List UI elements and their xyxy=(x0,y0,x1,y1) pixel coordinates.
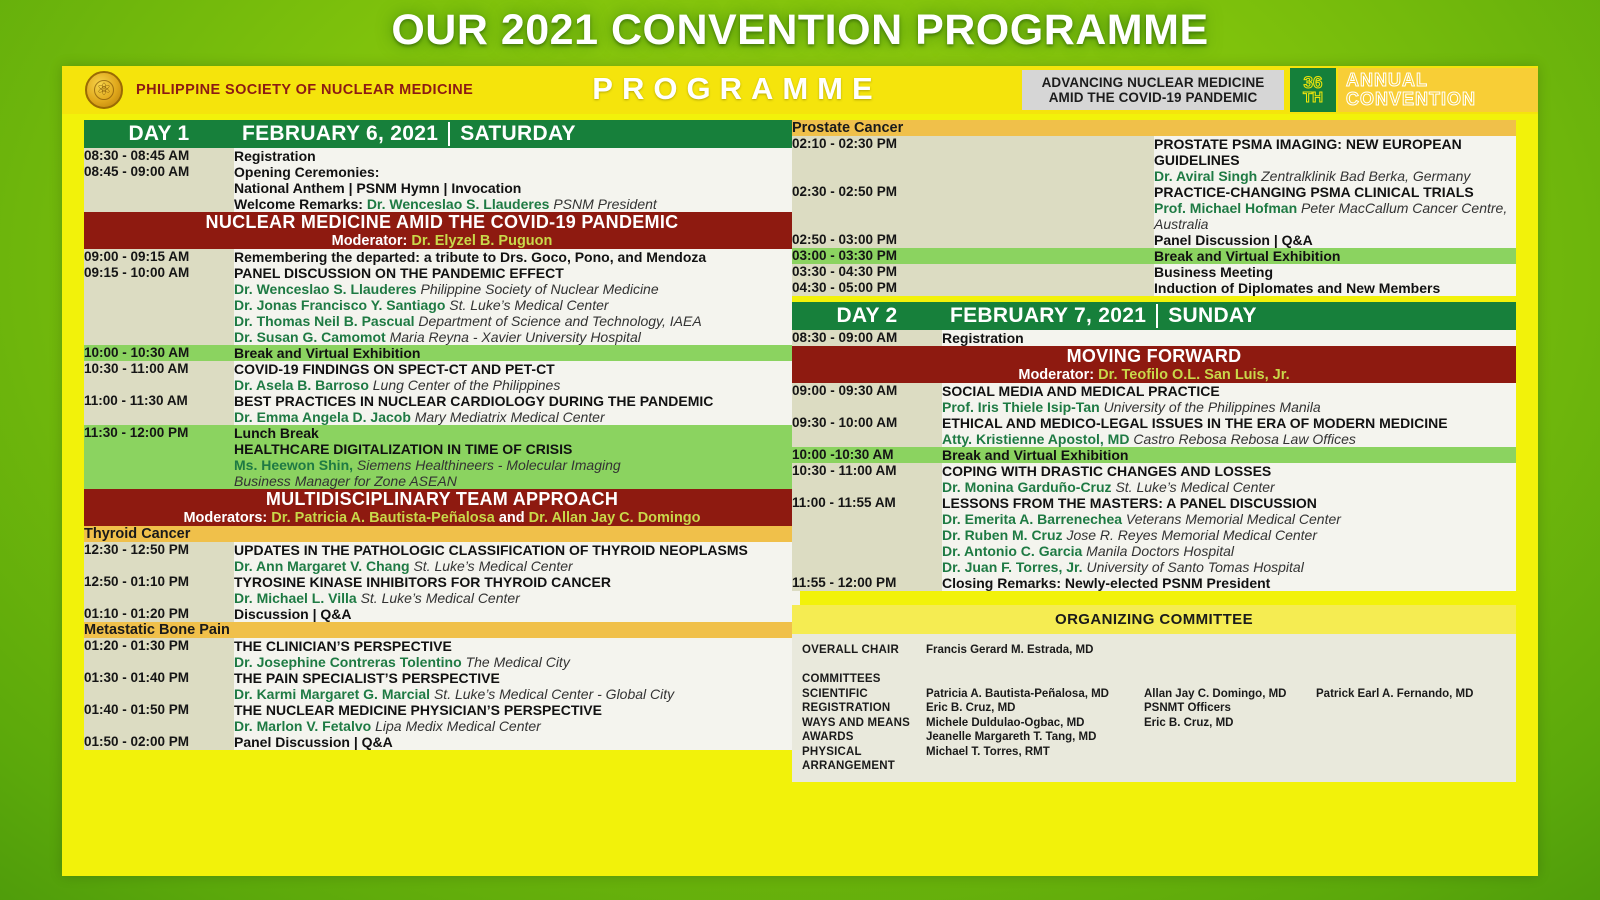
entry-speaker: Prof. Michael Hofman xyxy=(1154,200,1297,216)
oc-entry xyxy=(1144,730,1316,745)
schedule-entry: TYROSINE KINASE INHIBITORS FOR THYROID C… xyxy=(234,574,800,590)
schedule-row: 03:30 - 04:30 PMBusiness Meeting xyxy=(792,264,1516,280)
oc-entry: PHYSICAL ARRANGEMENT xyxy=(802,745,926,774)
schedule-line: Panel Discussion | Q&A xyxy=(1154,232,1516,248)
schedule-line: Break and Virtual Exhibition xyxy=(1154,248,1516,264)
entry-speaker: Dr. Karmi Margaret G. Marcial xyxy=(234,686,430,702)
schedule-row: 08:30 - 08:45 AMRegistration xyxy=(84,148,800,164)
entry-speaker: Dr. Emma Angela D. Jacob xyxy=(234,409,411,425)
schedule-line: Dr. Aviral Singh Zentralklinik Bad Berka… xyxy=(1154,168,1516,184)
organizing-committee-body: OVERALL CHAIR COMMITTEESSCIENTIFICREGIST… xyxy=(792,634,1516,782)
schedule-time: 11:30 - 12:00 PM xyxy=(84,425,234,489)
oc-entry: Eric B. Cruz, MD xyxy=(1144,716,1316,731)
entry-title: PANEL DISCUSSION ON THE PANDEMIC EFFECT xyxy=(234,265,564,281)
entry-affiliation: St. Luke’s Medical Center xyxy=(413,558,572,574)
oc-entry xyxy=(1316,716,1516,731)
schedule-row: 10:30 - 11:00 AMCOVID-19 FINDINGS ON SPE… xyxy=(84,361,800,377)
schedule-line: TYROSINE KINASE INHIBITORS FOR THYROID C… xyxy=(234,574,800,590)
schedule-time: 01:20 - 01:30 PM xyxy=(84,638,234,654)
schedule-entry: COPING WITH DRASTIC CHANGES AND LOSSES xyxy=(942,463,1516,479)
subsection-title: Metastatic Bone Pain xyxy=(84,622,800,638)
masthead: ⚛ PHILIPPINE SOCIETY OF NUCLEAR MEDICINE… xyxy=(62,66,1538,114)
subsection-header-row: Prostate Cancer xyxy=(792,120,1516,136)
entry-title: ETHICAL AND MEDICO-LEGAL ISSUES IN THE E… xyxy=(942,415,1448,431)
theme-line-1: ADVANCING NUCLEAR MEDICINE xyxy=(1042,75,1265,90)
oc-entry xyxy=(926,658,1144,673)
schedule-line: Break and Virtual Exhibition xyxy=(942,447,1516,463)
schedule-line: ETHICAL AND MEDICO-LEGAL ISSUES IN THE E… xyxy=(942,415,1516,431)
schedule-line: Closing Remarks: Newly-elected PSNM Pres… xyxy=(942,575,1516,591)
entry-title: Opening Ceremonies: xyxy=(234,164,379,180)
entry-title: Break and Virtual Exhibition xyxy=(234,345,420,361)
schedule-time: 10:00 -10:30 AM xyxy=(792,447,942,463)
schedule-row: 11:30 - 12:00 PMLunch BreakHEALTHCARE DI… xyxy=(84,425,800,489)
column-right: Prostate Cancer02:10 - 02:30 PMPROSTATE … xyxy=(792,120,1516,782)
annual-convention-wordmark: ANNUAL CONVENTION xyxy=(1338,68,1538,112)
schedule-entry: Dr. Emma Angela D. Jacob Mary Mediatrix … xyxy=(234,409,800,425)
entry-affiliation: Siemens Healthineers - Molecular Imaging xyxy=(357,457,621,473)
schedule-row: 01:30 - 01:40 PMTHE PAIN SPECIALIST’S PE… xyxy=(84,670,800,686)
schedule-time: 01:50 - 02:00 PM xyxy=(84,734,234,750)
schedule-line: Dr. Emerita A. Barrenechea Veterans Memo… xyxy=(942,511,1516,527)
day1-schedule-table: 08:30 - 08:45 AMRegistration08:45 - 09:0… xyxy=(84,148,800,750)
annual-line-2: CONVENTION xyxy=(1346,90,1538,109)
schedule-entry: Dr. Josephine Contreras Tolentino The Me… xyxy=(234,654,800,670)
entry-title: THE NUCLEAR MEDICINE PHYSICIAN’S PERSPEC… xyxy=(234,702,602,718)
schedule-time: 12:30 - 12:50 PM xyxy=(84,542,234,558)
schedule-entry: ETHICAL AND MEDICO-LEGAL ISSUES IN THE E… xyxy=(942,415,1516,431)
entry-speaker: Dr. Ruben M. Cruz xyxy=(942,527,1063,543)
schedule-line: SOCIAL MEDIA AND MEDICAL PRACTICE xyxy=(942,383,1516,399)
schedule-entry: Panel Discussion | Q&A xyxy=(234,734,800,750)
schedule-row: 09:15 - 10:00 AMPANEL DISCUSSION ON THE … xyxy=(84,265,800,281)
schedule-line: Dr. Ann Margaret V. Chang St. Luke’s Med… xyxy=(234,558,800,574)
schedule-row: Dr. Marlon V. Fetalvo Lipa Medix Medical… xyxy=(84,718,800,734)
schedule-row: Dr. Michael L. Villa St. Luke’s Medical … xyxy=(84,590,800,606)
schedule-time xyxy=(792,511,942,575)
schedule-line: Dr. Karmi Margaret G. Marcial St. Luke’s… xyxy=(234,686,800,702)
entry-affiliation: Castro Rebosa Rebosa Law Offices xyxy=(1133,431,1356,447)
schedule-line: National Anthem | PSNM Hymn | Invocation xyxy=(234,180,800,196)
schedule-row: Dr. Emerita A. Barrenechea Veterans Memo… xyxy=(792,511,1516,575)
entry-speaker: Dr. Thomas Neil B. Pascual xyxy=(234,313,415,329)
session-title: MULTIDISCIPLINARY TEAM APPROACH xyxy=(84,489,800,510)
schedule-entry: LESSONS FROM THE MASTERS: A PANEL DISCUS… xyxy=(942,495,1516,511)
edition-number: 36 xyxy=(1304,75,1323,90)
oc-entry: REGISTRATION xyxy=(802,701,926,716)
schedule-time: 12:50 - 01:10 PM xyxy=(84,574,234,590)
schedule-line: LESSONS FROM THE MASTERS: A PANEL DISCUS… xyxy=(942,495,1516,511)
schedule-row: 10:30 - 11:00 AMCOPING WITH DRASTIC CHAN… xyxy=(792,463,1516,479)
oc-entry xyxy=(1316,658,1516,673)
break-row: 03:00 - 03:30 PMBreak and Virtual Exhibi… xyxy=(792,248,1516,264)
oc-entry xyxy=(926,672,1144,687)
break-row: 10:00 - 10:30 AMBreak and Virtual Exhibi… xyxy=(84,345,800,361)
session-moderator: Moderator: Dr. Teofilo O.L. San Luis, Jr… xyxy=(792,367,1516,383)
oc-entry xyxy=(1316,730,1516,745)
schedule-line: Dr. Josephine Contreras Tolentino The Me… xyxy=(234,654,800,670)
schedule-line: THE NUCLEAR MEDICINE PHYSICIAN’S PERSPEC… xyxy=(234,702,800,718)
schedule-entry: PROSTATE PSMA IMAGING: NEW EUROPEAN GUID… xyxy=(1154,136,1516,168)
day2-date: FEBRUARY 7, 2021 xyxy=(942,304,1158,328)
schedule-line: Dr. Monina Garduño-Cruz St. Luke’s Medic… xyxy=(942,479,1516,495)
schedule-line: HEALTHCARE DIGITALIZATION IN TIME OF CRI… xyxy=(234,441,800,457)
schedule-row: 09:30 - 10:00 AMETHICAL AND MEDICO-LEGAL… xyxy=(792,415,1516,431)
entry-title: Registration xyxy=(942,330,1024,346)
entry-title: Break and Virtual Exhibition xyxy=(1154,248,1340,264)
session-title: MOVING FORWARD xyxy=(792,346,1516,367)
schedule-entry: Dr. Monina Garduño-Cruz St. Luke’s Medic… xyxy=(942,479,1516,495)
entry-affiliation: St. Luke’s Medical Center xyxy=(1115,479,1274,495)
schedule-time: 01:40 - 01:50 PM xyxy=(84,702,234,718)
schedule-row: Welcome Remarks: Dr. Wenceslao S. Llaude… xyxy=(84,196,800,212)
session-header-row: MOVING FORWARDModerator: Dr. Teofilo O.L… xyxy=(792,346,1516,383)
schedule-entry: Discussion | Q&A xyxy=(234,606,800,622)
schedule-entry: Lunch BreakHEALTHCARE DIGITALIZATION IN … xyxy=(234,425,800,489)
schedule-row: Atty. Kristienne Apostol, MD Castro Rebo… xyxy=(792,431,1516,447)
oc-entry: Francis Gerard M. Estrada, MD xyxy=(926,643,1144,658)
schedule-row: 11:55 - 12:00 PMClosing Remarks: Newly-e… xyxy=(792,575,1516,591)
oc-entry xyxy=(1316,701,1516,716)
entry-speaker: Dr. Wenceslao S. Llauderes xyxy=(234,281,417,297)
entry-affiliation: St. Luke’s Medical Center - Global City xyxy=(434,686,674,702)
schedule-time xyxy=(792,168,1154,184)
entry-title: Business Meeting xyxy=(1154,264,1273,280)
schedule-line: Welcome Remarks: Dr. Wenceslao S. Llaude… xyxy=(234,196,800,212)
entry-title: Closing Remarks: Newly-elected PSNM Pres… xyxy=(942,575,1270,591)
schedule-entry: Closing Remarks: Newly-elected PSNM Pres… xyxy=(942,575,1516,591)
schedule-time xyxy=(792,399,942,415)
schedule-time xyxy=(84,558,234,574)
schedule-time xyxy=(84,281,234,345)
entry-title: SOCIAL MEDIA AND MEDICAL PRACTICE xyxy=(942,383,1220,399)
entry-title: COVID-19 FINDINGS ON SPECT-CT AND PET-CT xyxy=(234,361,555,377)
day1-continued-table: Prostate Cancer02:10 - 02:30 PMPROSTATE … xyxy=(792,120,1516,296)
schedule-line: Panel Discussion | Q&A xyxy=(234,734,800,750)
schedule-line: Ms. Heewon Shin, Siemens Healthineers - … xyxy=(234,457,800,473)
entry-title: Remembering the departed: a tribute to D… xyxy=(234,249,706,265)
entry-title: LESSONS FROM THE MASTERS: A PANEL DISCUS… xyxy=(942,495,1317,511)
entry-title: TYROSINE KINASE INHIBITORS FOR THYROID C… xyxy=(234,574,611,590)
schedule-time: 10:00 - 10:30 AM xyxy=(84,345,234,361)
schedule-entry: THE NUCLEAR MEDICINE PHYSICIAN’S PERSPEC… xyxy=(234,702,800,718)
schedule-row: Dr. Karmi Margaret G. Marcial St. Luke’s… xyxy=(84,686,800,702)
entry-speaker: Dr. Antonio C. Garcia xyxy=(942,543,1082,559)
session-moderator: Moderator: Dr. Elyzel B. Puguon xyxy=(84,233,800,249)
schedule-row: 02:30 - 02:50 PMPRACTICE-CHANGING PSMA C… xyxy=(792,184,1516,200)
schedule-entry: Dr. Aviral Singh Zentralklinik Bad Berka… xyxy=(1154,168,1516,184)
entry-speaker: Dr. Wenceslao S. Llauderes xyxy=(367,196,550,212)
schedule-line: THE CLINICIAN’S PERSPECTIVE xyxy=(234,638,800,654)
schedule-entry: Atty. Kristienne Apostol, MD Castro Rebo… xyxy=(942,431,1516,447)
schedule-entry: SOCIAL MEDIA AND MEDICAL PRACTICE xyxy=(942,383,1516,399)
schedule-time: 11:00 - 11:55 AM xyxy=(792,495,942,511)
schedule-row: 08:30 - 09:00 AMRegistration xyxy=(792,330,1516,346)
schedule-row: 01:50 - 02:00 PMPanel Discussion | Q&A xyxy=(84,734,800,750)
organizing-committee-title: ORGANIZING COMMITTEE xyxy=(792,605,1516,634)
schedule-time xyxy=(84,409,234,425)
oc-entry: PSNMT Officers xyxy=(1144,701,1316,716)
schedule-line: Dr. Jonas Francisco Y. Santiago St. Luke… xyxy=(234,297,800,313)
entry-title: THE CLINICIAN’S PERSPECTIVE xyxy=(234,638,452,654)
schedule-row: 12:30 - 12:50 PMUPDATES IN THE PATHOLOGI… xyxy=(84,542,800,558)
schedule-line: Atty. Kristienne Apostol, MD Castro Rebo… xyxy=(942,431,1516,447)
entry-speaker: Ms. Heewon Shin, xyxy=(234,457,353,473)
schedule-line: COPING WITH DRASTIC CHANGES AND LOSSES xyxy=(942,463,1516,479)
entry-affiliation: Philippine Society of Nuclear Medicine xyxy=(421,281,659,297)
schedule-line: Dr. Wenceslao S. Llauderes Philippine So… xyxy=(234,281,800,297)
schedule-entry: Dr. Marlon V. Fetalvo Lipa Medix Medical… xyxy=(234,718,800,734)
entry-affiliation: St. Luke’s Medical Center xyxy=(449,297,608,313)
entry-title: THE PAIN SPECIALIST’S PERSPECTIVE xyxy=(234,670,500,686)
oc-entry xyxy=(1316,672,1516,687)
entry-title: Panel Discussion | Q&A xyxy=(1154,232,1313,248)
schedule-entry: Induction of Diplomates and New Members xyxy=(1154,280,1516,296)
schedule-row: 02:50 - 03:00 PMPanel Discussion | Q&A xyxy=(792,232,1516,248)
oc-entry: Jeanelle Margareth T. Tang, MD xyxy=(926,730,1144,745)
schedule-row: Prof. Iris Thiele Isip-Tan University of… xyxy=(792,399,1516,415)
schedule-line: Dr. Ruben M. Cruz Jose R. Reyes Memorial… xyxy=(942,527,1516,543)
schedule-line: Dr. Juan F. Torres, Jr. University of Sa… xyxy=(942,559,1516,575)
entry-speaker: Dr. Susan G. Camomot xyxy=(234,329,386,345)
day2-label: DAY 2 xyxy=(792,304,942,328)
schedule-time: 08:45 - 09:00 AM xyxy=(84,164,234,180)
schedule-line: Dr. Marlon V. Fetalvo Lipa Medix Medical… xyxy=(234,718,800,734)
entry-title: BEST PRACTICES IN NUCLEAR CARDIOLOGY DUR… xyxy=(234,393,713,409)
schedule-entry: THE PAIN SPECIALIST’S PERSPECTIVE xyxy=(234,670,800,686)
schedule-line: Dr. Susan G. Camomot Maria Reyna - Xavie… xyxy=(234,329,800,345)
entry-title: Welcome Remarks: xyxy=(234,196,363,212)
schedule-line: Dr. Thomas Neil B. Pascual Department of… xyxy=(234,313,800,329)
schedule-line: Lunch Break xyxy=(234,425,800,441)
session-header-row: MULTIDISCIPLINARY TEAM APPROACHModerator… xyxy=(84,489,800,526)
schedule-line: Opening Ceremonies: xyxy=(234,164,800,180)
entry-affiliation: Department of Science and Technology, IA… xyxy=(418,313,701,329)
entry-title: PRACTICE-CHANGING PSMA CLINICAL TRIALS xyxy=(1154,184,1474,200)
session-header-row: NUCLEAR MEDICINE AMID THE COVID-19 PANDE… xyxy=(84,212,800,249)
schedule-time: 02:50 - 03:00 PM xyxy=(792,232,1154,248)
oc-column-3: Patrick Earl A. Fernando, MD xyxy=(1316,643,1516,774)
schedule-entry: PRACTICE-CHANGING PSMA CLINICAL TRIALS xyxy=(1154,184,1516,200)
schedule-line: Prof. Michael Hofman Peter MacCallum Can… xyxy=(1154,200,1516,232)
page-title: OUR 2021 CONVENTION PROGRAMME xyxy=(0,6,1600,55)
schedule-time xyxy=(84,686,234,702)
schedule-row: 09:00 - 09:30 AMSOCIAL MEDIA AND MEDICAL… xyxy=(792,383,1516,399)
entry-affiliation: University of Santo Tomas Hospital xyxy=(1086,559,1303,575)
organization-name: PHILIPPINE SOCIETY OF NUCLEAR MEDICINE xyxy=(136,82,473,98)
oc-entry: WAYS AND MEANS xyxy=(802,716,926,731)
entry-title: HEALTHCARE DIGITALIZATION IN TIME OF CRI… xyxy=(234,441,572,457)
subsection-title: Prostate Cancer xyxy=(792,120,1516,136)
schedule-line: PROSTATE PSMA IMAGING: NEW EUROPEAN GUID… xyxy=(1154,136,1516,168)
schedule-time: 09:15 - 10:00 AM xyxy=(84,265,234,281)
schedule-line: Business Manager for Zone ASEAN xyxy=(234,473,800,489)
day2-weekday: SUNDAY xyxy=(1158,304,1257,328)
oc-labels: OVERALL CHAIR COMMITTEESSCIENTIFICREGIST… xyxy=(792,643,926,774)
entry-affiliation: Mary Mediatrix Medical Center xyxy=(415,409,605,425)
schedule-time: 04:30 - 05:00 PM xyxy=(792,280,1154,296)
entry-title: Induction of Diplomates and New Members xyxy=(1154,280,1440,296)
entry-title: Break and Virtual Exhibition xyxy=(942,447,1128,463)
schedule-entry: Prof. Michael Hofman Peter MacCallum Can… xyxy=(1154,200,1516,232)
schedule-row: 11:00 - 11:30 AMBEST PRACTICES IN NUCLEA… xyxy=(84,393,800,409)
schedule-row: 04:30 - 05:00 PMInduction of Diplomates … xyxy=(792,280,1516,296)
edition-suffix: TH xyxy=(1303,90,1323,105)
convention-theme: ADVANCING NUCLEAR MEDICINE AMID THE COVI… xyxy=(1022,70,1284,110)
schedule-entry: Break and Virtual Exhibition xyxy=(234,345,800,361)
entry-affiliation: Veterans Memorial Medical Center xyxy=(1126,511,1341,527)
schedule-entry: Break and Virtual Exhibition xyxy=(1154,248,1516,264)
schedule-entry: Registration xyxy=(942,330,1516,346)
schedule-entry: THE CLINICIAN’S PERSPECTIVE xyxy=(234,638,800,654)
oc-entry: Allan Jay C. Domingo, MD xyxy=(1144,687,1316,702)
psnm-seal-icon: ⚛ xyxy=(85,71,123,109)
schedule-time: 02:10 - 02:30 PM xyxy=(792,136,1154,168)
entry-speaker: Dr. Juan F. Torres, Jr. xyxy=(942,559,1083,575)
oc-column-2: Allan Jay C. Domingo, MDPSNMT OfficersEr… xyxy=(1144,643,1316,774)
entry-affiliation: Lipa Medix Medical Center xyxy=(375,718,541,734)
schedule-line: UPDATES IN THE PATHOLOGIC CLASSIFICATION… xyxy=(234,542,800,558)
oc-entry: OVERALL CHAIR xyxy=(802,643,926,658)
schedule-time: 01:10 - 01:20 PM xyxy=(84,606,234,622)
session-moderator: Moderators: Dr. Patricia A. Bautista-Peñ… xyxy=(84,510,800,526)
entry-title: Discussion | Q&A xyxy=(234,606,352,622)
schedule-time: 11:00 - 11:30 AM xyxy=(84,393,234,409)
entry-affiliation: University of the Philippines Manila xyxy=(1104,399,1321,415)
schedule-entry: PANEL DISCUSSION ON THE PANDEMIC EFFECT xyxy=(234,265,800,281)
day2-header: DAY 2 FEBRUARY 7, 2021 SUNDAY xyxy=(792,302,1516,330)
schedule-time xyxy=(792,479,942,495)
session-title: NUCLEAR MEDICINE AMID THE COVID-19 PANDE… xyxy=(84,212,800,233)
organizing-committee: ORGANIZING COMMITTEE OVERALL CHAIR COMMI… xyxy=(792,605,1516,782)
schedule-entry: Break and Virtual Exhibition xyxy=(942,447,1516,463)
schedule-line: THE PAIN SPECIALIST’S PERSPECTIVE xyxy=(234,670,800,686)
entry-speaker: Atty. Kristienne Apostol, MD xyxy=(942,431,1129,447)
oc-entry: Michele Duldulao-Ogbac, MD xyxy=(926,716,1144,731)
schedule-row: 09:00 - 09:15 AMRemembering the departed… xyxy=(84,249,800,265)
day1-date: FEBRUARY 6, 2021 xyxy=(234,122,450,146)
oc-entry xyxy=(1316,745,1516,760)
schedule-time xyxy=(792,431,942,447)
schedule-entry: Dr. Michael L. Villa St. Luke’s Medical … xyxy=(234,590,800,606)
entry-speaker: Dr. Emerita A. Barrenechea xyxy=(942,511,1122,527)
schedule-line: Dr. Antonio C. Garcia Manila Doctors Hos… xyxy=(942,543,1516,559)
column-left: DAY 1 FEBRUARY 6, 2021 SATURDAY 08:30 - … xyxy=(84,120,800,750)
schedule-entry: BEST PRACTICES IN NUCLEAR CARDIOLOGY DUR… xyxy=(234,393,800,409)
annual-line-1: ANNUAL xyxy=(1346,71,1538,90)
schedule-row: Dr. Ann Margaret V. Chang St. Luke’s Med… xyxy=(84,558,800,574)
entry-speaker: Dr. Aviral Singh xyxy=(1154,168,1257,184)
schedule-line: Registration xyxy=(234,148,800,164)
schedule-time: 02:30 - 02:50 PM xyxy=(792,184,1154,200)
schedule-entry: Dr. Ann Margaret V. Chang St. Luke’s Med… xyxy=(234,558,800,574)
day1-label: DAY 1 xyxy=(84,122,234,146)
schedule-line: Business Meeting xyxy=(1154,264,1516,280)
oc-entry xyxy=(802,658,926,673)
subsection-header-row: Metastatic Bone Pain xyxy=(84,622,800,638)
theme-line-2: AMID THE COVID-19 PANDEMIC xyxy=(1049,90,1258,105)
entry-speaker: Dr. Monina Garduño-Cruz xyxy=(942,479,1112,495)
schedule-line: Prof. Iris Thiele Isip-Tan University of… xyxy=(942,399,1516,415)
oc-entry: SCIENTIFIC xyxy=(802,687,926,702)
entry-title: National Anthem | PSNM Hymn | Invocation xyxy=(234,180,521,196)
entry-speaker: Dr. Ann Margaret V. Chang xyxy=(234,558,410,574)
schedule-line: PRACTICE-CHANGING PSMA CLINICAL TRIALS xyxy=(1154,184,1516,200)
schedule-time: 08:30 - 08:45 AM xyxy=(84,148,234,164)
entry-affiliation: The Medical City xyxy=(466,654,570,670)
schedule-line: Remembering the departed: a tribute to D… xyxy=(234,249,800,265)
schedule-entry: Opening Ceremonies: xyxy=(234,164,800,180)
oc-entry xyxy=(1144,672,1316,687)
schedule-entry: Registration xyxy=(234,148,800,164)
oc-entry: Patrick Earl A. Fernando, MD xyxy=(1316,687,1516,702)
schedule-line: Discussion | Q&A xyxy=(234,606,800,622)
schedule-time xyxy=(84,654,234,670)
entry-affiliation: Maria Reyna - Xavier University Hospital xyxy=(390,329,641,345)
schedule-line: Dr. Emma Angela D. Jacob Mary Mediatrix … xyxy=(234,409,800,425)
entry-affiliation: Business Manager for Zone ASEAN xyxy=(234,473,457,489)
entry-title: COPING WITH DRASTIC CHANGES AND LOSSES xyxy=(942,463,1271,479)
schedule-time: 09:00 - 09:15 AM xyxy=(84,249,234,265)
schedule-entry: UPDATES IN THE PATHOLOGIC CLASSIFICATION… xyxy=(234,542,800,558)
schedule-time: 11:55 - 12:00 PM xyxy=(792,575,942,591)
schedule-entry: Dr. Karmi Margaret G. Marcial St. Luke’s… xyxy=(234,686,800,702)
entry-title: Registration xyxy=(234,148,316,164)
oc-column-1: Francis Gerard M. Estrada, MD Patricia A… xyxy=(926,643,1144,774)
schedule-entry: National Anthem | PSNM Hymn | Invocation xyxy=(234,180,800,196)
programme-poster: OUR 2021 CONVENTION PROGRAMME ⚛ PHILIPPI… xyxy=(0,0,1600,900)
entry-title: Panel Discussion | Q&A xyxy=(234,734,393,750)
break-row: 10:00 -10:30 AMBreak and Virtual Exhibit… xyxy=(792,447,1516,463)
schedule-row: Dr. Emma Angela D. Jacob Mary Mediatrix … xyxy=(84,409,800,425)
entry-affiliation: Jose R. Reyes Memorial Medical Center xyxy=(1066,527,1317,543)
schedule-row: 02:10 - 02:30 PMPROSTATE PSMA IMAGING: N… xyxy=(792,136,1516,168)
schedule-entry: Dr. Wenceslao S. Llauderes Philippine So… xyxy=(234,281,800,345)
schedule-line: BEST PRACTICES IN NUCLEAR CARDIOLOGY DUR… xyxy=(234,393,800,409)
schedule-entry: COVID-19 FINDINGS ON SPECT-CT AND PET-CT xyxy=(234,361,800,377)
schedule-row: 12:50 - 01:10 PMTYROSINE KINASE INHIBITO… xyxy=(84,574,800,590)
schedule-time: 10:30 - 11:00 AM xyxy=(792,463,942,479)
schedule-row: Dr. Josephine Contreras Tolentino The Me… xyxy=(84,654,800,670)
schedule-row: 01:20 - 01:30 PMTHE CLINICIAN’S PERSPECT… xyxy=(84,638,800,654)
oc-entry: Michael T. Torres, RMT xyxy=(926,745,1144,760)
schedule-time xyxy=(84,590,234,606)
entry-speaker: Dr. Michael L. Villa xyxy=(234,590,357,606)
entry-title: PROSTATE PSMA IMAGING: NEW EUROPEAN GUID… xyxy=(1154,136,1462,168)
schedule-entry: Business Meeting xyxy=(1154,264,1516,280)
schedule-time xyxy=(84,180,234,196)
oc-entry: Patricia A. Bautista-Peñalosa, MD xyxy=(926,687,1144,702)
edition-badge: 36 TH xyxy=(1290,68,1336,112)
entry-affiliation: Lung Center of the Philippines xyxy=(373,377,561,393)
programme-frame: ⚛ PHILIPPINE SOCIETY OF NUCLEAR MEDICINE… xyxy=(62,66,1538,876)
schedule-row: 08:45 - 09:00 AMOpening Ceremonies: xyxy=(84,164,800,180)
schedule-entry: Dr. Asela B. Barroso Lung Center of the … xyxy=(234,377,800,393)
programme-wordmark: PROGRAMME xyxy=(522,71,952,107)
entry-speaker: Dr. Marlon V. Fetalvo xyxy=(234,718,371,734)
oc-entry xyxy=(1144,745,1316,760)
schedule-time xyxy=(84,377,234,393)
schedule-entry: Prof. Iris Thiele Isip-Tan University of… xyxy=(942,399,1516,415)
schedule-time: 03:30 - 04:30 PM xyxy=(792,264,1154,280)
entry-title: Lunch Break xyxy=(234,425,319,441)
entry-affiliation: Zentralklinik Bad Berka, Germany xyxy=(1261,168,1470,184)
schedule-entry: Dr. Emerita A. Barrenechea Veterans Memo… xyxy=(942,511,1516,575)
oc-entry: COMMITTEES xyxy=(802,672,926,687)
schedule-time: 10:30 - 11:00 AM xyxy=(84,361,234,377)
entry-affiliation: PSNM President xyxy=(553,196,656,212)
schedule-row: 01:40 - 01:50 PMTHE NUCLEAR MEDICINE PHY… xyxy=(84,702,800,718)
